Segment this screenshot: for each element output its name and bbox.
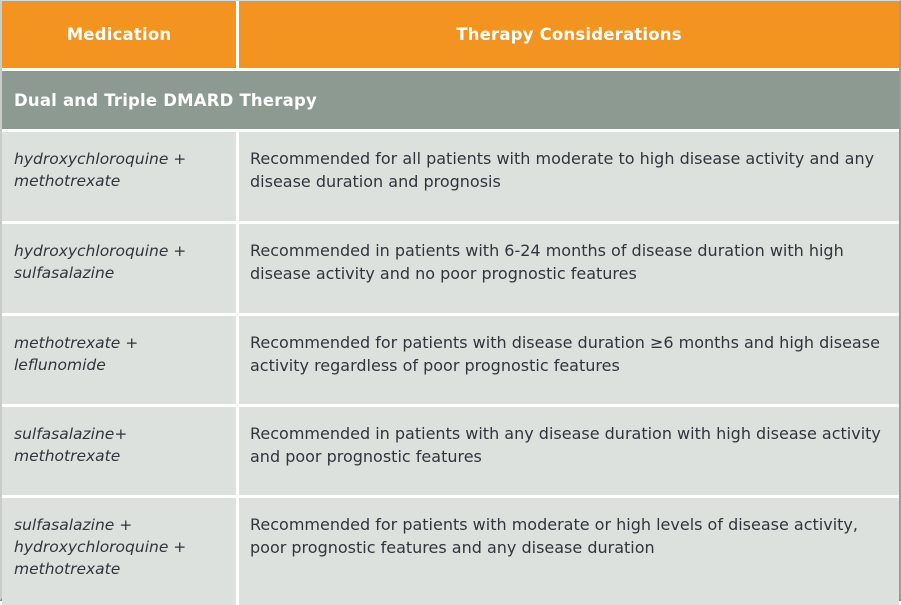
table-row: methotrexate + leflunomide Recommended f… [2,316,899,404]
column-header-medication: Medication [2,1,236,68]
cell-medication: hydroxychloroquine + sulfasalazine [2,224,236,313]
cell-therapy-considerations: Recommended in patients with 6-24 months… [239,224,899,313]
cell-therapy-considerations: Recommended for all patients with modera… [239,132,899,221]
table-row: hydroxychloroquine + sulfasalazine Recom… [2,224,899,313]
table-row: hydroxychloroquine + methotrexate Recomm… [2,132,899,221]
cell-therapy-considerations: Recommended for patients with disease du… [239,316,899,404]
table-body: hydroxychloroquine + methotrexate Recomm… [2,129,899,605]
column-header-therapy-considerations: Therapy Considerations [239,1,899,68]
dmard-therapy-table: Medication Therapy Considerations Dual a… [0,0,901,601]
cell-therapy-considerations: Recommended in patients with any disease… [239,407,899,495]
cell-therapy-considerations: Recommended for patients with moderate o… [239,498,899,605]
table-row: sulfasalazine+ methotrexate Recommended … [2,407,899,495]
table-row: sulfasalazine + hydroxychloroquine + met… [2,498,899,605]
cell-medication: sulfasalazine + hydroxychloroquine + met… [2,498,236,605]
cell-medication: methotrexate + leflunomide [2,316,236,404]
cell-medication: sulfasalazine+ methotrexate [2,407,236,495]
section-header-dual-and-triple-dmard-therapy: Dual and Triple DMARD Therapy [2,71,899,129]
table-header-row: Medication Therapy Considerations [2,1,899,68]
cell-medication: hydroxychloroquine + methotrexate [2,132,236,221]
